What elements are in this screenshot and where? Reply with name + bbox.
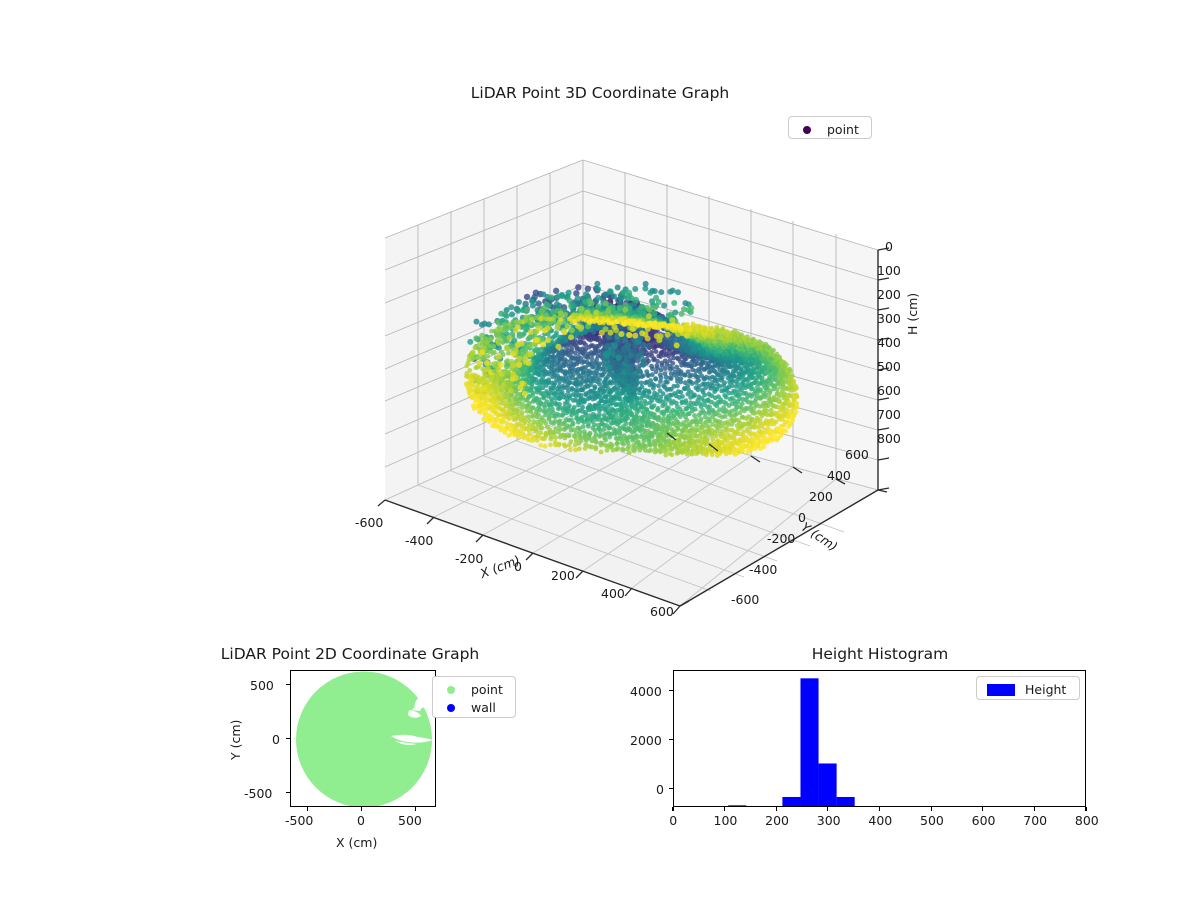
z-tick-label: 700 [877, 407, 901, 422]
y-tick-label: -200 [767, 531, 795, 546]
x-tick-label: 600 [972, 813, 996, 828]
histogram-bar [782, 797, 800, 807]
x-tick-label: 300 [817, 813, 841, 828]
legend-item-wall: wall [441, 699, 507, 717]
z-tick-label: 0 [885, 239, 893, 254]
x-tick-mark [415, 807, 416, 811]
y-tick-label: -600 [731, 592, 759, 607]
y-tick-label: 200 [809, 489, 833, 504]
x-tick-label: 400 [868, 813, 892, 828]
scatter2d-axes[interactable] [290, 670, 436, 807]
matplotlib-figure: LiDAR Point 3D Coordinate Graph point [0, 0, 1200, 900]
legend-item-point: point [441, 681, 507, 699]
x-tick-label: 500 [398, 813, 422, 828]
histogram-bars [692, 678, 855, 807]
legend-label: Height [1025, 684, 1066, 697]
y-tick-label: 400 [827, 468, 851, 483]
legend-item-height: Height [985, 681, 1071, 699]
z-tick-label: 300 [877, 311, 901, 326]
scatter2d-canvas [291, 671, 436, 807]
wall-marker-icon [447, 704, 455, 712]
y-tick-label: 2000 [630, 733, 662, 748]
legend-label: wall [471, 702, 496, 715]
x-tick-mark [982, 807, 983, 811]
y-tick-mark [669, 690, 673, 691]
scatter2d-yaxis-label: Y (cm) [228, 720, 243, 760]
y-tick-label: 600 [845, 447, 869, 462]
y-tick-label: 4000 [630, 684, 662, 699]
x-tick-label: 800 [1075, 813, 1099, 828]
points-series [296, 672, 433, 808]
x-tick-label: 100 [714, 813, 738, 828]
x-tick-mark [827, 807, 828, 811]
y-tick-mark [286, 792, 290, 793]
x-tick-label: 500 [920, 813, 944, 828]
x-tick-label: -600 [355, 515, 383, 530]
y-tick-label: -400 [749, 562, 777, 577]
z-tick-label: 500 [877, 359, 901, 374]
x-tick-mark [361, 807, 362, 811]
x-tick-label: -400 [405, 533, 433, 548]
x-tick-label: 700 [1023, 813, 1047, 828]
scatter2d-title: LiDAR Point 2D Coordinate Graph [205, 645, 495, 663]
x-tick-label: 0 [669, 813, 677, 828]
point-marker-icon [447, 686, 455, 694]
x-tick-label: 400 [601, 586, 625, 601]
x-tick-mark [672, 807, 673, 811]
x-tick-mark [776, 807, 777, 811]
y-tick-label: -500 [244, 786, 272, 801]
histogram-legend: Height [976, 676, 1080, 700]
y-tick-mark [286, 684, 290, 685]
zaxis-label: H (cm) [905, 293, 920, 335]
histogram-bar [819, 763, 837, 807]
z-tick-label: 100 [877, 263, 901, 278]
x-tick-label: 0 [357, 813, 365, 828]
z-tick-label: 800 [877, 431, 901, 446]
x-tick-mark [931, 807, 932, 811]
z-tick-label: 200 [877, 287, 901, 302]
y-tick-label: 0 [272, 732, 280, 747]
x-tick-label: 600 [650, 604, 674, 619]
x-tick-label: 200 [765, 813, 789, 828]
x-tick-mark [307, 807, 308, 811]
histogram-bar [837, 797, 855, 807]
y-tick-mark [669, 788, 673, 789]
y-tick-mark [286, 738, 290, 739]
scatter2d-xaxis-label: X (cm) [336, 835, 377, 850]
y-tick-mark [669, 739, 673, 740]
x-tick-mark [1034, 807, 1035, 811]
histogram-bar [728, 805, 746, 807]
scatter2d-legend: point wall [432, 676, 516, 718]
x-tick-mark [1085, 807, 1086, 811]
scatter3d-title: LiDAR Point 3D Coordinate Graph [0, 84, 1200, 102]
histogram-bar [800, 678, 818, 807]
histogram-title: Height Histogram [730, 645, 1030, 663]
x-tick-mark [879, 807, 880, 811]
x-tick-label: -500 [285, 813, 313, 828]
z-tick-label: 600 [877, 383, 901, 398]
y-tick-label: 0 [656, 782, 664, 797]
x-tick-mark [724, 807, 725, 811]
x-tick-label: 200 [551, 568, 575, 583]
y-tick-label: 500 [250, 678, 274, 693]
x-tick-label: -200 [455, 551, 483, 566]
z-tick-label: 400 [877, 335, 901, 350]
legend-label: point [471, 684, 503, 697]
height-patch-icon [987, 684, 1015, 696]
